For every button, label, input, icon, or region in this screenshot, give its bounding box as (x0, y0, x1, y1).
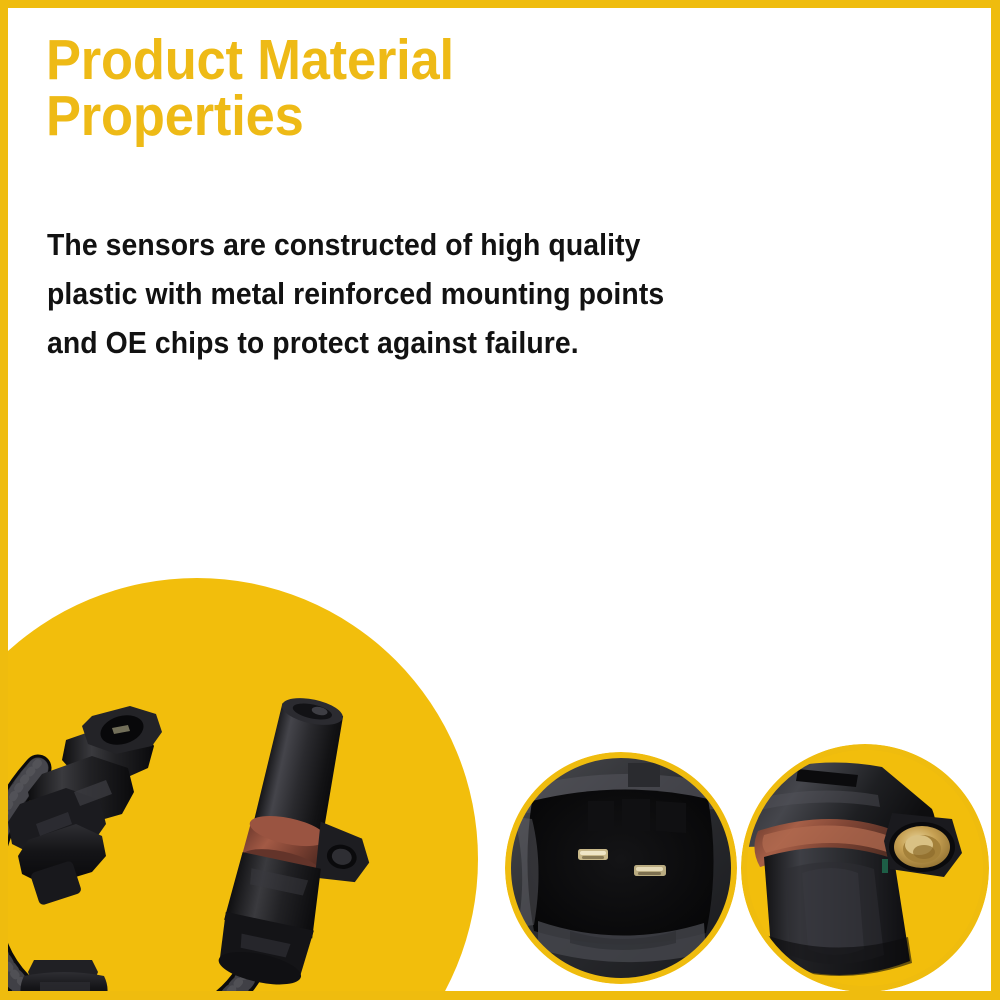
description-paragraph: The sensors are constructed of high qual… (47, 221, 865, 368)
detail-circle-mounting-point (741, 744, 989, 992)
page-title: Product Material Properties (46, 32, 745, 144)
border-right (991, 0, 1000, 1000)
border-top (0, 0, 1000, 8)
detail-connector-image (510, 757, 732, 979)
detail-circle-connector-terminals (505, 752, 737, 984)
infographic-canvas: Product Material Properties The sensors … (0, 0, 1000, 1000)
detail-mount-image (746, 749, 984, 987)
hero-sensor-image (0, 578, 478, 1000)
